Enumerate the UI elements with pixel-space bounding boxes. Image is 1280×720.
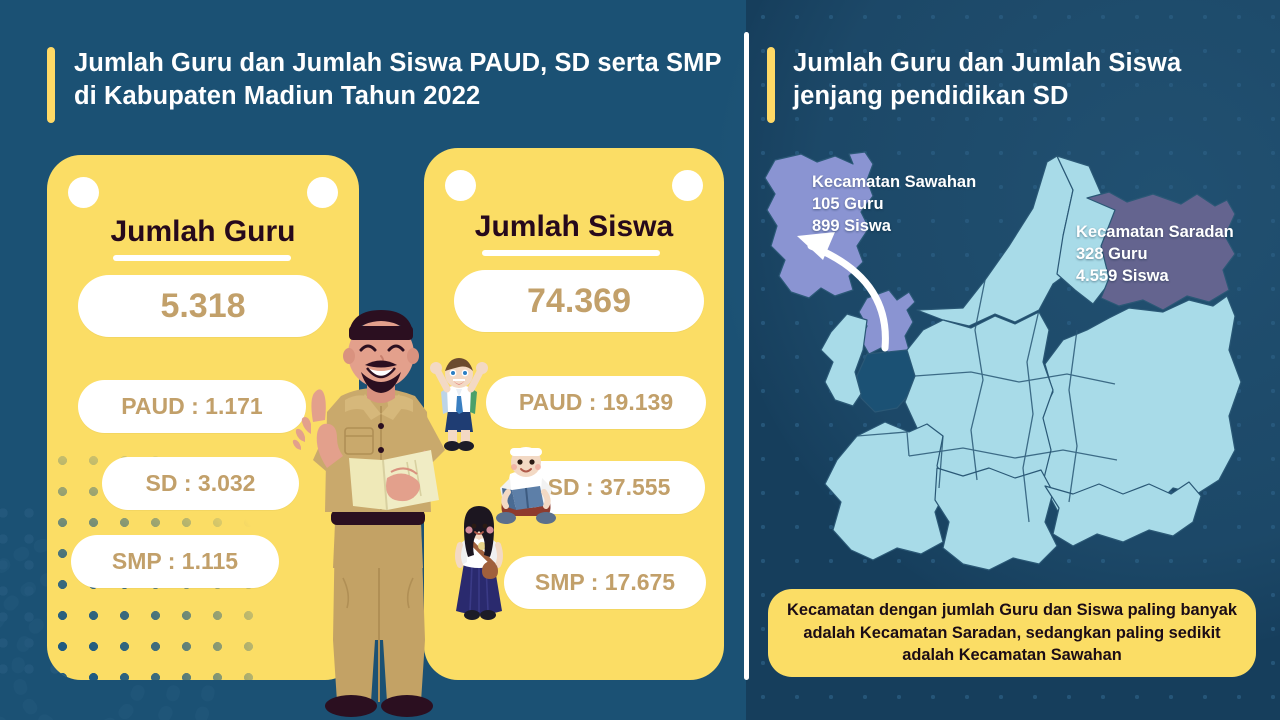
map-region-east: [1039, 296, 1241, 520]
summary-caption-box: Kecamatan dengan jumlah Guru dan Siswa p…: [768, 589, 1256, 677]
map-label-sawahan-siswa: 899 Siswa: [812, 216, 976, 238]
map-region-southwest: [825, 422, 949, 560]
siswa-smp-pill: SMP : 17.675: [504, 556, 706, 609]
right-panel-title: Jumlah Guru dan Jumlah Siswa jenjang pen…: [767, 47, 1237, 123]
student-boy-cheering-icon: [428, 358, 490, 453]
left-title-text: Jumlah Guru dan Jumlah Siswa PAUD, SD se…: [74, 47, 727, 113]
infographic-canvas: Jumlah Guru dan Jumlah Siswa PAUD, SD se…: [0, 0, 1280, 720]
map-label-saradan-name: Kecamatan Saradan: [1076, 222, 1234, 244]
card-pin-hole-top-right: [672, 170, 703, 201]
card-title-underline: [482, 250, 660, 256]
siswa-paud-pill: PAUD : 19.139: [486, 376, 706, 429]
card-pin-hole-top-left: [445, 170, 476, 201]
map-region-base-nw: [821, 314, 867, 406]
card-title-siswa: Jumlah Siswa: [424, 210, 724, 244]
map-label-sawahan-name: Kecamatan Sawahan: [812, 172, 976, 194]
map-label-sawahan-guru: 105 Guru: [812, 194, 976, 216]
title-accent-bar-left: [47, 47, 55, 123]
map-region-south-central: [935, 468, 1057, 570]
student-girl-icon: [448, 505, 510, 623]
map-label-saradan: Kecamatan Saradan 328 Guru 4.559 Siswa: [1076, 222, 1234, 288]
siswa-total-pill: 74.369: [454, 270, 704, 332]
left-panel-title: Jumlah Guru dan Jumlah Siswa PAUD, SD se…: [47, 47, 727, 123]
card-pin-hole-top-right: [307, 177, 338, 208]
card-pin-hole-top-left: [68, 177, 99, 208]
card-title-guru: Jumlah Guru: [47, 215, 359, 249]
right-title-text: Jumlah Guru dan Jumlah Siswa jenjang pen…: [793, 47, 1237, 113]
map-label-saradan-siswa: 4.559 Siswa: [1076, 266, 1234, 288]
vertical-divider: [744, 32, 749, 680]
map-label-sawahan: Kecamatan Sawahan 105 Guru 899 Siswa: [812, 172, 976, 238]
title-accent-bar-right: [767, 47, 775, 123]
guru-paud-pill: PAUD : 1.171: [78, 380, 306, 433]
map-label-saradan-guru: 328 Guru: [1076, 244, 1234, 266]
card-title-underline: [113, 255, 291, 261]
guru-smp-pill: SMP : 1.115: [71, 535, 279, 588]
guru-sd-pill: SD : 3.032: [102, 457, 299, 510]
